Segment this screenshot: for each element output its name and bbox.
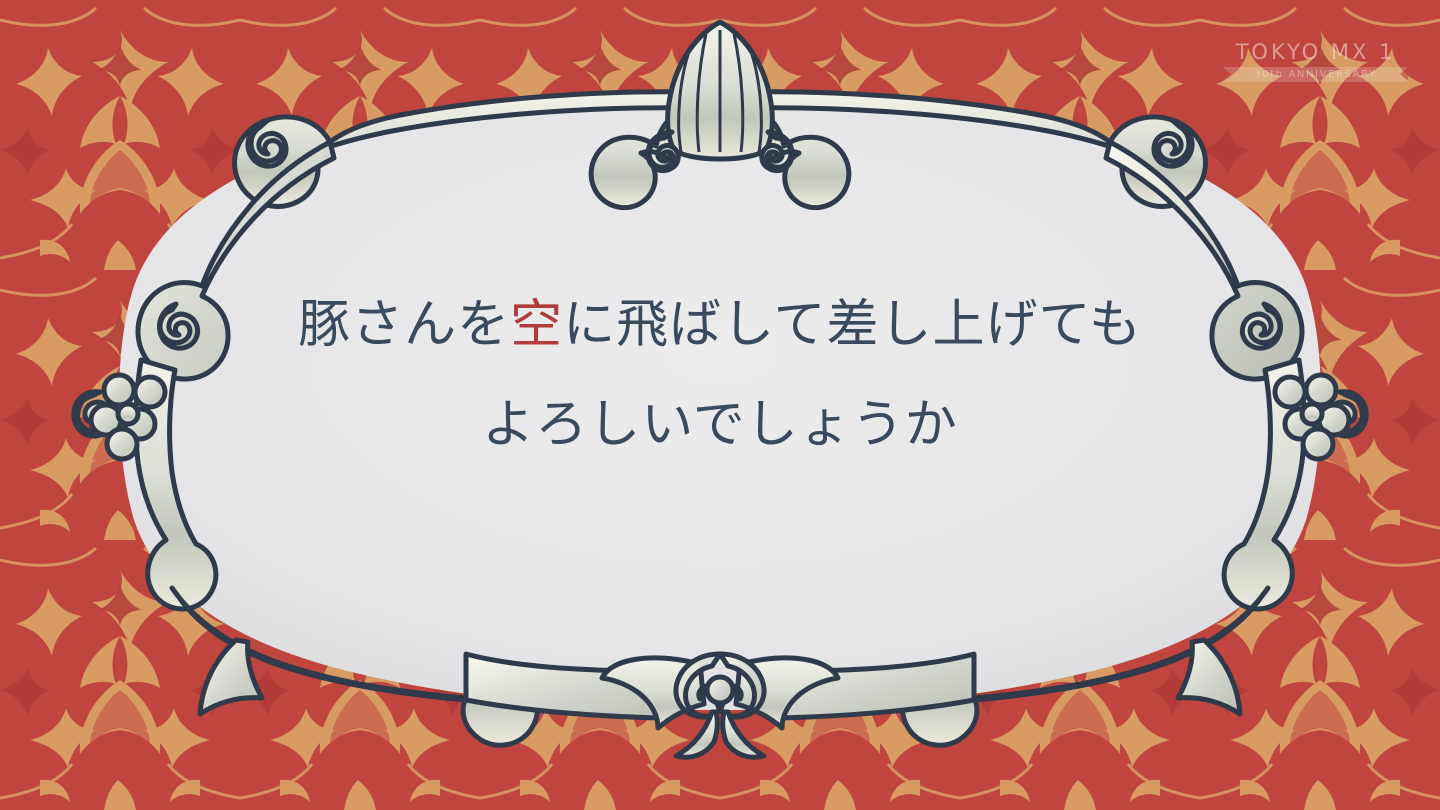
ornate-rococo-frame — [0, 0, 1440, 810]
title-card-scene: 豚さんを空に飛ばして差し上げても よろしいでしょうか TOKYO MX 1 30… — [0, 0, 1440, 810]
center-boss — [707, 677, 733, 703]
frame-svg — [0, 0, 1440, 810]
